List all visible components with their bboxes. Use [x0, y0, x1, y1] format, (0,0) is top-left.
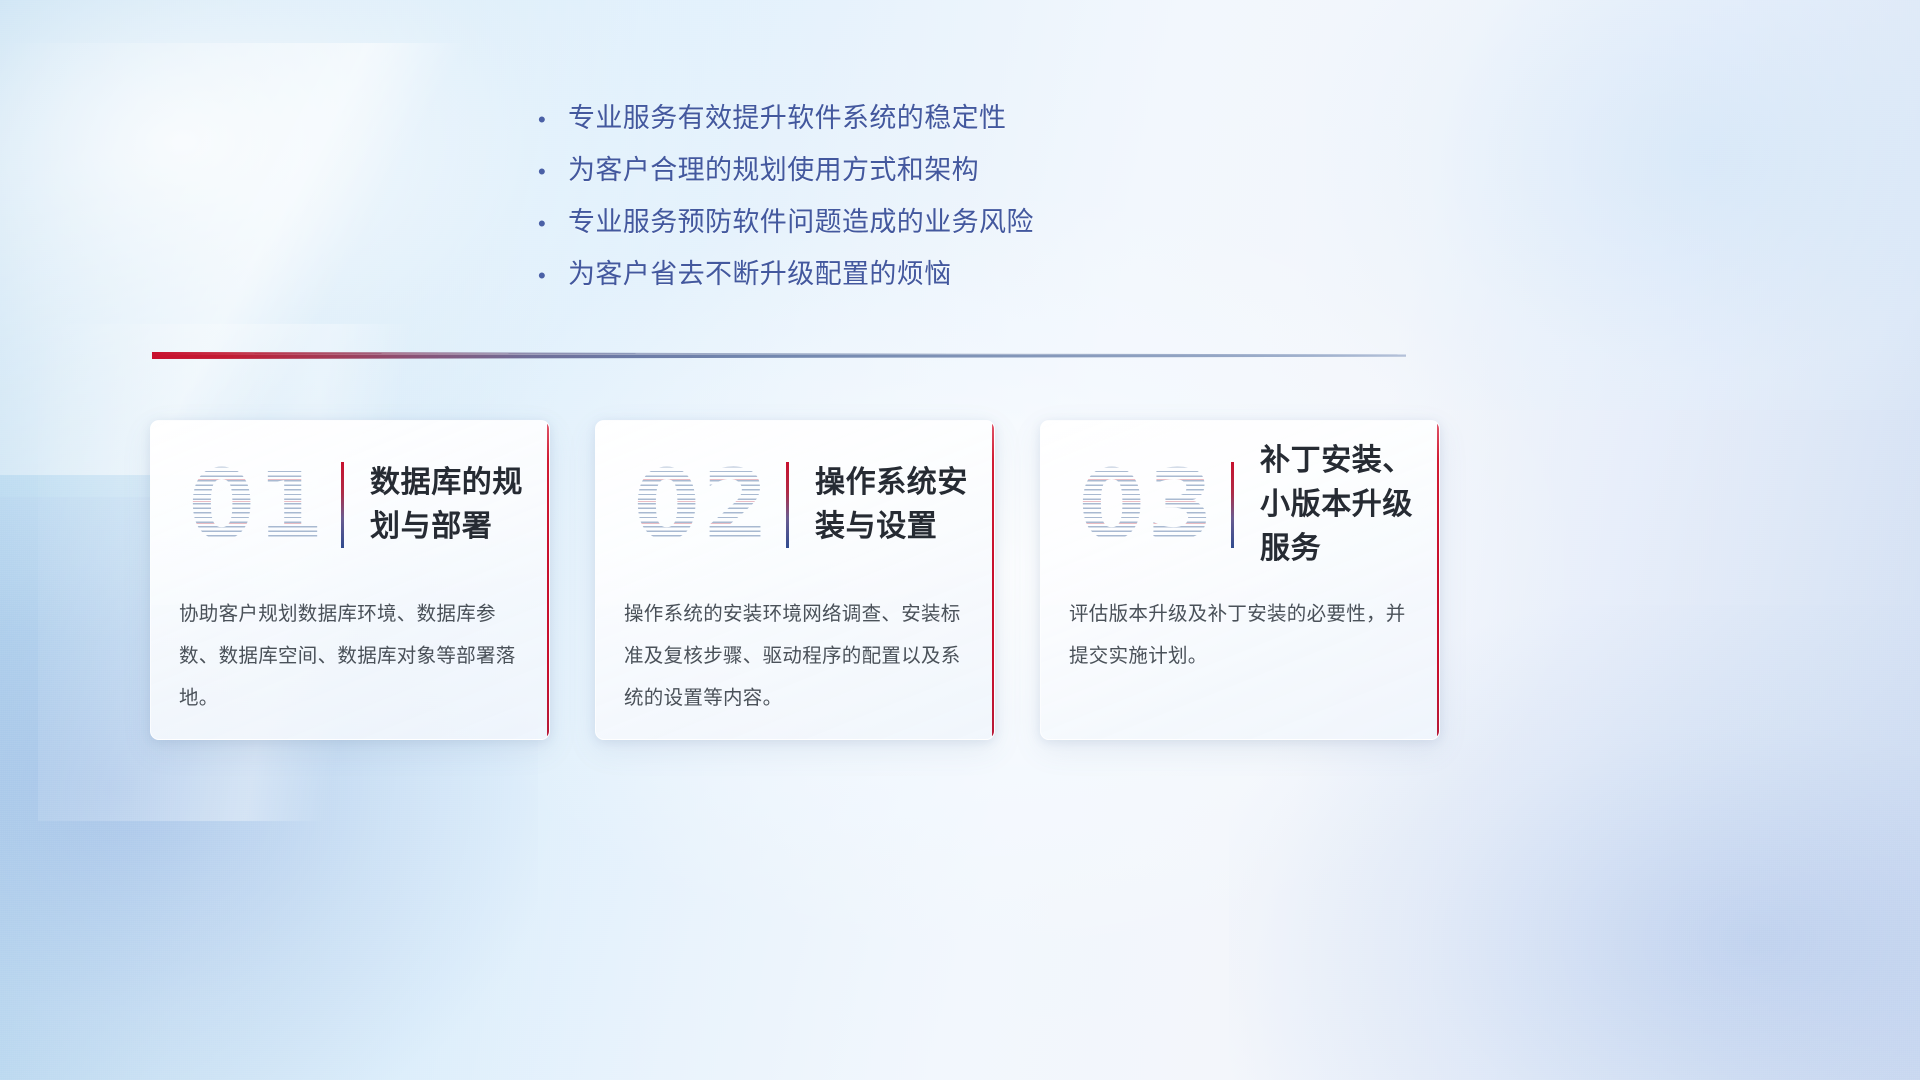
card-number-label: 01 — [188, 457, 326, 553]
card-body-text: 操作系统的安装环境网络调查、安装标准及复核步骤、驱动程序的配置以及系统的设置等内… — [624, 593, 964, 719]
benefits-bullet-list: • 专业服务有效提升软件系统的稳定性 • 为客户合理的规划使用方式和架构 • 专… — [538, 92, 1138, 300]
service-card[interactable]: 02 操作系统安装与设置 操作系统的安装环境网络调查、安装标准及复核步骤、驱动程… — [595, 420, 995, 740]
service-card-list: 01 数据库的规划与部署 协助客户规划数据库环境、数据库参数、数据库空间、数据库… — [150, 420, 1770, 740]
bullet-dot-icon: • — [538, 198, 568, 250]
bullet-item-label: 专业服务预防软件问题造成的业务风险 — [568, 196, 1034, 248]
service-card[interactable]: 03 补丁安装、小版本升级服务 评估版本升级及补丁安装的必要性，并提交实施计划。 — [1040, 420, 1440, 740]
card-number-watermark: 03 — [1063, 445, 1231, 565]
bullet-item-label: 专业服务有效提升软件系统的稳定性 — [568, 92, 1006, 144]
card-body-text: 协助客户规划数据库环境、数据库参数、数据库空间、数据库对象等部署落地。 — [179, 593, 519, 719]
card-body-text: 评估版本升级及补丁安装的必要性，并提交实施计划。 — [1069, 593, 1409, 677]
bullet-item: • 为客户省去不断升级配置的烦恼 — [538, 248, 1138, 300]
card-title-accent-rule — [786, 462, 789, 548]
bullet-dot-icon: • — [538, 146, 568, 198]
service-card[interactable]: 01 数据库的规划与部署 协助客户规划数据库环境、数据库参数、数据库空间、数据库… — [150, 420, 550, 740]
card-number-label: 03 — [1078, 457, 1216, 553]
bullet-item: • 专业服务有效提升软件系统的稳定性 — [538, 92, 1138, 144]
card-number-watermark: 02 — [618, 445, 786, 565]
bullet-dot-icon: • — [538, 250, 568, 302]
card-title: 数据库的规划与部署 — [370, 461, 549, 549]
card-number-label: 02 — [633, 457, 771, 553]
bullet-dot-icon: • — [538, 94, 568, 146]
bullet-item-label: 为客户合理的规划使用方式和架构 — [568, 144, 979, 196]
card-title-accent-rule — [1231, 462, 1234, 548]
card-title-accent-rule — [341, 462, 344, 548]
card-header: 02 操作系统安装与设置 — [596, 421, 994, 589]
bullet-item: • 专业服务预防软件问题造成的业务风险 — [538, 196, 1138, 248]
section-divider-line — [152, 352, 1406, 359]
card-number-watermark: 01 — [173, 445, 341, 565]
card-header: 03 补丁安装、小版本升级服务 — [1041, 421, 1439, 589]
section-divider — [152, 348, 1406, 364]
card-title: 补丁安装、小版本升级服务 — [1260, 439, 1439, 571]
bullet-item: • 为客户合理的规划使用方式和架构 — [538, 144, 1138, 196]
card-title: 操作系统安装与设置 — [815, 461, 994, 549]
card-header: 01 数据库的规划与部署 — [151, 421, 549, 589]
bullet-item-label: 为客户省去不断升级配置的烦恼 — [568, 248, 952, 300]
